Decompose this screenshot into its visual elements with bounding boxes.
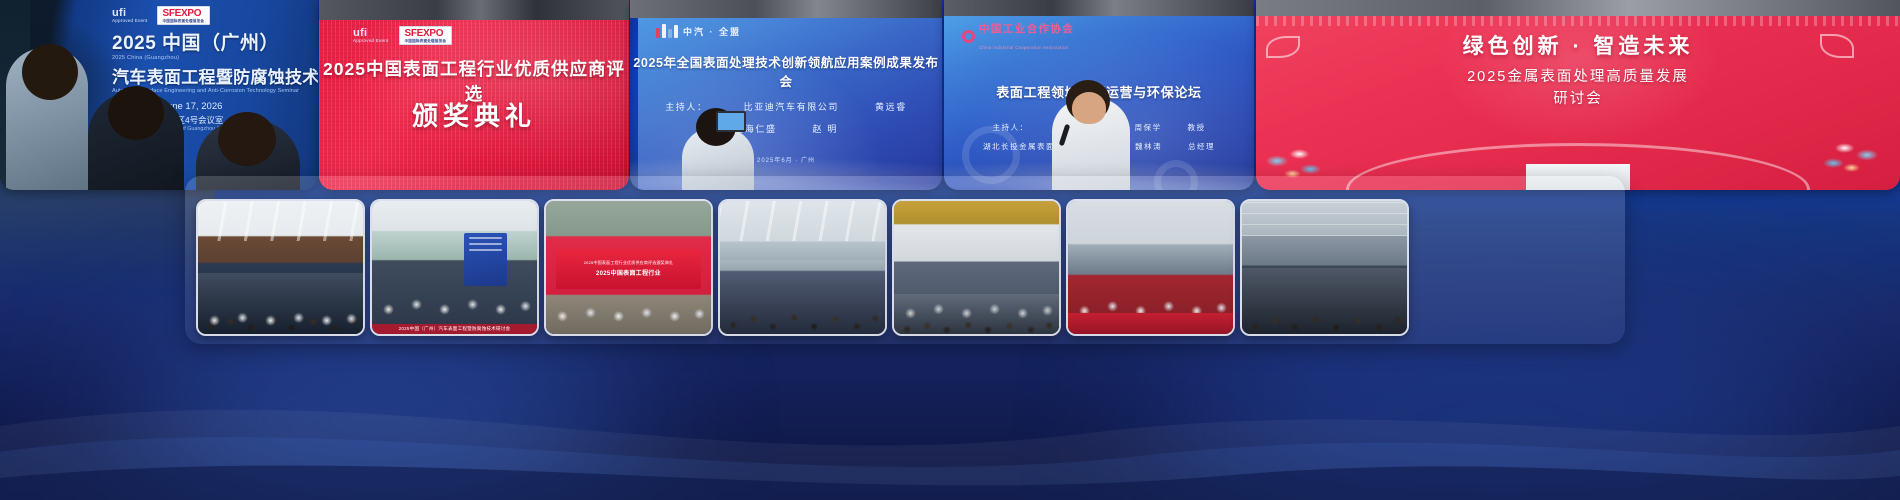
cica-org-en: China Industrial Cooperation Association — [979, 45, 1068, 50]
sfexpo-logo-text: SFEXPO — [405, 28, 444, 39]
ufi-logo-line2: Approved Event — [112, 19, 148, 23]
thumb-award-winners[interactable]: 2025中国表面工程行业优质供应商评选颁奖典礼 2025中国表面工程行业 — [544, 199, 713, 336]
background-wave — [0, 330, 1900, 500]
top-panel-row: ufi Approved Event SFEXPO 中国国际表面处理展览会 20… — [0, 0, 1900, 192]
thumb-caption: 2025中国（广州）汽车表面工程暨防腐蚀技术研讨会 — [372, 324, 537, 334]
phone-camera-icon — [716, 111, 746, 132]
panel-award-ceremony[interactable]: ufi Approved Event SFEXPO 中国国际表面处理展览会 20… — [319, 0, 629, 190]
cica-org-cn: 中国工业合作协会 — [979, 23, 1074, 35]
host-label: 主持人： — [665, 100, 707, 113]
sfexpo-logo-sub: 中国国际表面处理展览会 — [405, 39, 447, 44]
ufi-logo: ufi Approved Event — [112, 8, 148, 23]
panel-green-innovation[interactable]: 绿色创新 · 智造未来 2025金属表面处理高质量发展 研讨会 — [1256, 0, 1900, 190]
ufi-logo: ufi Approved Event — [353, 28, 389, 43]
attendee-2-head — [108, 86, 164, 140]
caam-slide-title: 2025年全国表面处理技术创新领航应用案例成果发布会 — [630, 52, 942, 90]
award-subtitle: 颁奖典礼 — [319, 96, 629, 133]
flower-ornament-icon — [1818, 126, 1888, 184]
thumb-group-photo-lobby[interactable]: 2025中国（广州）汽车表面工程暨防腐蚀技术研讨会 — [370, 199, 539, 336]
ufi-logo-line1: ufi — [353, 28, 389, 38]
cica-logo-text: 中国工业合作协会 China Industrial Cooperation As… — [979, 20, 1074, 54]
seated-audience — [1242, 268, 1407, 335]
green-banner-subtitle-line2: 研讨会 — [1553, 91, 1603, 107]
red-tablecloth — [1068, 313, 1233, 334]
banner-line — [469, 243, 502, 245]
green-banner-title: 绿色创新 · 智造未来 — [1256, 30, 1900, 60]
panel-caam-release[interactable]: 中汽 · 全盟 2025年全国表面处理技术创新领航应用案例成果发布会 主持人： … — [630, 0, 942, 190]
ceiling-bar — [319, 0, 629, 20]
group-photo-people — [372, 252, 537, 334]
ceiling-lights — [198, 201, 363, 241]
award-banner-line1: 2025中国表面工程行业优质供应商评选颁奖典礼 — [584, 260, 674, 266]
host-name: 黄远睿 — [875, 100, 907, 113]
thumb-conference-room[interactable] — [196, 199, 365, 336]
sfexpo-logo-sub: 中国国际表面处理展览会 — [163, 19, 205, 24]
ceiling-bar — [630, 0, 942, 18]
panel-registration[interactable]: ufi Approved Event SFEXPO 中国国际表面处理展览会 20… — [0, 0, 318, 190]
banner-line — [469, 237, 502, 239]
award-winners-row — [546, 275, 711, 334]
thumb-vip-table-talk[interactable] — [1066, 199, 1235, 336]
sfexpo-logo-text: SFEXPO — [163, 8, 202, 19]
attendee-1-head — [22, 44, 78, 100]
front-row-people — [198, 289, 363, 334]
thumb-exhibition-hall[interactable] — [1240, 199, 1409, 336]
sfexpo-logo: SFEXPO 中国国际表面处理展览会 — [399, 26, 453, 45]
registration-year-en: 2025 China (Guangzhou) — [112, 55, 314, 61]
background-glow-left — [120, 330, 640, 500]
seated-audience — [894, 294, 1059, 334]
caam-logo: 中汽 · 全盟 — [656, 24, 741, 38]
caam-mark-icon — [656, 24, 678, 38]
registration-year-cn: 2025 中国（广州） — [112, 28, 314, 55]
hall-ceiling — [1242, 201, 1407, 236]
caam-org-name: 中汽 · 全盟 — [683, 25, 741, 38]
green-banner-subtitle: 2025金属表面处理高质量发展 研讨会 — [1256, 66, 1900, 111]
registration-logos: ufi Approved Event SFEXPO 中国国际表面处理展览会 — [112, 6, 314, 25]
collage-banner: ufi Approved Event SFEXPO 中国国际表面处理展览会 20… — [0, 0, 1900, 500]
ufi-logo-line2: Approved Event — [353, 39, 389, 43]
seated-audience — [720, 260, 885, 334]
attendee-3-head — [218, 112, 276, 166]
cica-gear-icon — [962, 30, 975, 43]
thumb-booth-visitors[interactable] — [892, 199, 1061, 336]
host-row: 主持人： 比亚迪汽车有限公司 黄远睿 — [630, 100, 942, 113]
ceiling-lights — [720, 201, 885, 241]
lace-border — [1256, 16, 1900, 26]
thumbnail-row: 2025中国（广州）汽车表面工程暨防腐蚀技术研讨会 2025中国表面工程行业优质… — [196, 199, 1409, 336]
speaker-face — [1072, 92, 1106, 124]
green-banner-subtitle-line1: 2025金属表面处理高质量发展 — [1467, 69, 1689, 85]
ceiling-bar — [1256, 0, 1900, 16]
thumb-audience-hall[interactable] — [718, 199, 887, 336]
host-org: 比亚迪汽车有限公司 — [744, 100, 839, 113]
ufi-logo-line1: ufi — [112, 8, 148, 18]
panel-cica-forum[interactable]: 中国工业合作协会 China Industrial Cooperation As… — [944, 0, 1254, 190]
ceiling-bar — [944, 0, 1254, 16]
background-glow-right — [1150, 320, 1850, 500]
sfexpo-logo: SFEXPO 中国国际表面处理展览会 — [157, 6, 211, 25]
cica-logo: 中国工业合作协会 China Industrial Cooperation As… — [962, 20, 1074, 54]
registration-title-cn: 汽车表面工程暨防腐蚀技术研讨会 — [112, 63, 314, 88]
award-logos: ufi Approved Event SFEXPO 中国国际表面处理展览会 — [353, 26, 452, 45]
